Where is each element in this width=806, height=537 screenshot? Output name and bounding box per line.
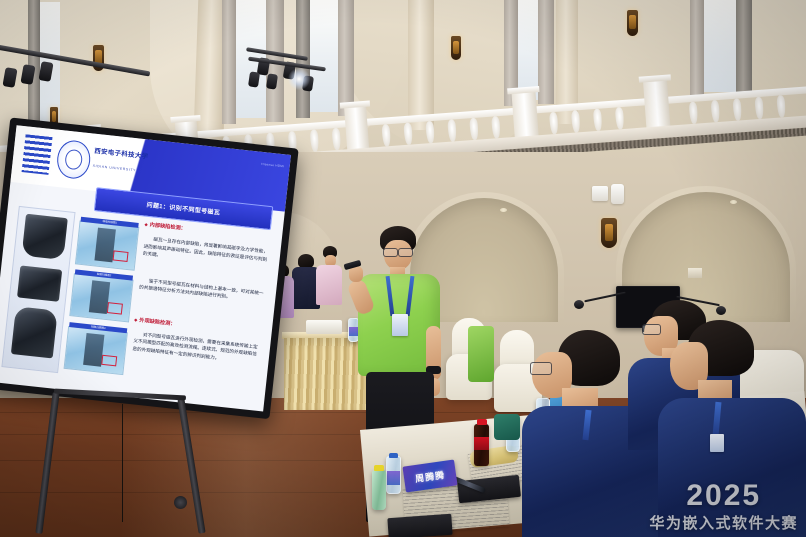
presenter-glasses-left bbox=[383, 248, 398, 257]
alcove-spot-left bbox=[500, 208, 507, 212]
defect-marker-3 bbox=[102, 355, 118, 367]
photo-scene: 西安电子科技大学 XIDIAN UNIVERSITY Hisense HDMI … bbox=[0, 0, 806, 537]
judge3-badge bbox=[710, 434, 724, 452]
scan-image-2: 缺陷扫描图2 bbox=[69, 273, 133, 323]
green-pouch bbox=[494, 414, 520, 440]
slide-screen: 西安电子科技大学 XIDIAN UNIVERSITY Hisense HDMI … bbox=[0, 125, 291, 411]
scan-image-column: 缺陷扫描图1 缺陷扫描图2 缺陷扫描图3 bbox=[63, 213, 138, 378]
defect-marker-1 bbox=[113, 250, 129, 262]
specimen-photo-1 bbox=[21, 214, 67, 260]
scan-label-1: 缺陷扫描图1 bbox=[81, 217, 139, 228]
light-beam-glow bbox=[288, 68, 310, 90]
judge-right bbox=[658, 320, 806, 537]
water-bottle-fg-1 bbox=[386, 456, 401, 494]
water-bottle-fg-2 bbox=[372, 470, 386, 510]
specimen-photo-column bbox=[1, 206, 75, 373]
slide-bullet-1-para-1: 磁瓦一旦存在内部缺陷，将显著影响其磁学及力学性能，进而影响其声振动特征。因此，缺… bbox=[142, 235, 268, 271]
wall-speaker bbox=[611, 184, 624, 204]
slide-bullet-2-heading: 外观缺陷检测： bbox=[134, 316, 176, 327]
stacked-napkins bbox=[306, 320, 342, 334]
defect-marker-2 bbox=[107, 303, 123, 315]
balustrade-post-3 bbox=[344, 105, 369, 150]
scan-image-1: 缺陷扫描图1 bbox=[75, 221, 139, 271]
slide-stripe-decor bbox=[21, 134, 53, 175]
slide-bullet-2-para-1: 对不同型号磁瓦进行外观检测，需要在采集系统传输上定义不同模型匹配的高效检测流程。… bbox=[132, 330, 258, 366]
scan-label-2: 缺陷扫描图2 bbox=[75, 269, 133, 280]
specimen-photo-2 bbox=[17, 265, 62, 301]
scan-label-3: 缺陷扫描图3 bbox=[69, 322, 127, 333]
balustrade-post-5 bbox=[643, 79, 670, 129]
presenter-badge bbox=[392, 314, 408, 336]
wall-sconce-3 bbox=[451, 36, 461, 60]
presenter-glasses-right bbox=[398, 248, 413, 257]
scan-image-3: 缺陷扫描图3 bbox=[64, 325, 128, 375]
green-bag bbox=[468, 326, 494, 382]
balustrade-post-4 bbox=[511, 90, 538, 138]
staff-pink-shirt bbox=[316, 265, 342, 305]
par-light-6 bbox=[248, 71, 260, 87]
presentation-display[interactable]: 西安电子科技大学 XIDIAN UNIVERSITY Hisense HDMI … bbox=[0, 117, 299, 419]
window-center bbox=[306, 0, 342, 112]
specimen-photo-3 bbox=[10, 306, 57, 358]
slide-bullet-1-para-2: 鉴于不同型号磁瓦在材料与结构上基本一致，可对其统一的共振谱特征分析方法对内部缺陷… bbox=[139, 276, 264, 304]
slide-bullet-1-heading: 内部缺陷检测： bbox=[144, 221, 186, 232]
par-light-7 bbox=[266, 73, 278, 89]
judge3-shirt bbox=[658, 398, 806, 537]
display-stand-wheel bbox=[174, 496, 187, 509]
dais-paper bbox=[688, 268, 702, 278]
mic-head-left bbox=[574, 300, 584, 309]
cola-bottle bbox=[474, 424, 489, 466]
folder-dark bbox=[387, 514, 452, 537]
wall-sconce-lower bbox=[601, 218, 617, 248]
wall-sconce-4 bbox=[627, 10, 638, 36]
drape-far-left bbox=[28, 0, 40, 126]
wall-sensor-box bbox=[592, 186, 608, 201]
judge1-glasses bbox=[530, 362, 552, 375]
alcove-spot-right bbox=[730, 200, 737, 204]
